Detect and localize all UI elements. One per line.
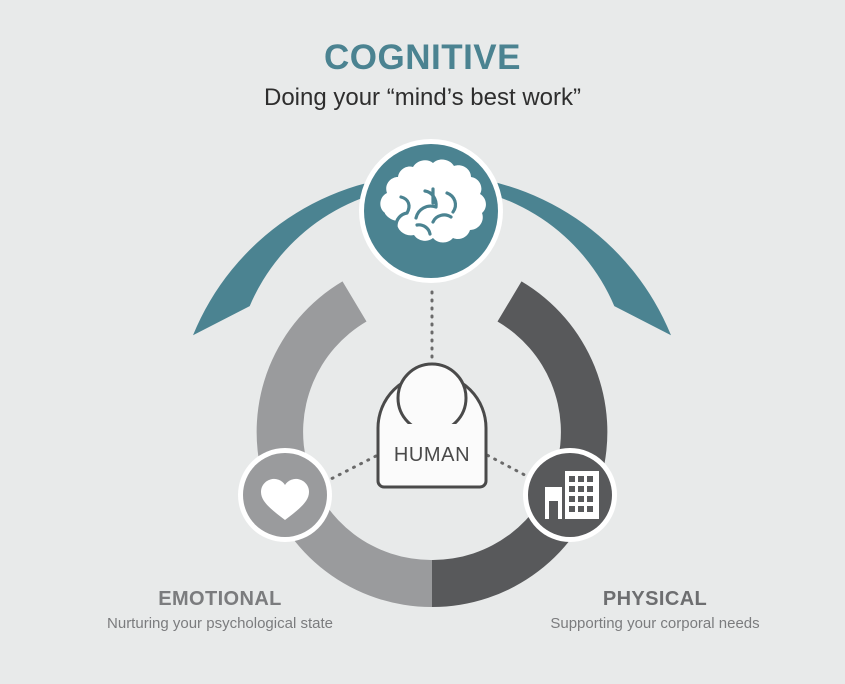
- physical-title: PHYSICAL: [480, 587, 830, 611]
- emotional-subtitle: Nurturing your psychological state: [45, 614, 395, 634]
- cognitive-subtitle: Doing your “mind’s best work”: [0, 84, 845, 112]
- emotional-label-block: EMOTIONAL Nurturing your psychological s…: [45, 587, 395, 634]
- badge-emotional[interactable]: [238, 448, 332, 542]
- cognitive-title: COGNITIVE: [0, 40, 845, 77]
- connector-emotional: [325, 455, 378, 482]
- human-head: [398, 364, 466, 432]
- human-figure: HUMAN: [378, 364, 486, 487]
- badge-physical[interactable]: [523, 448, 617, 542]
- physical-subtitle: Supporting your corporal needs: [480, 614, 830, 634]
- badge-cognitive[interactable]: [359, 139, 503, 283]
- diagram-canvas: HUMAN: [0, 0, 845, 684]
- physical-label-block: PHYSICAL Supporting your corporal needs: [480, 587, 830, 634]
- human-label: HUMAN: [394, 444, 470, 466]
- emotional-title: EMOTIONAL: [45, 587, 395, 611]
